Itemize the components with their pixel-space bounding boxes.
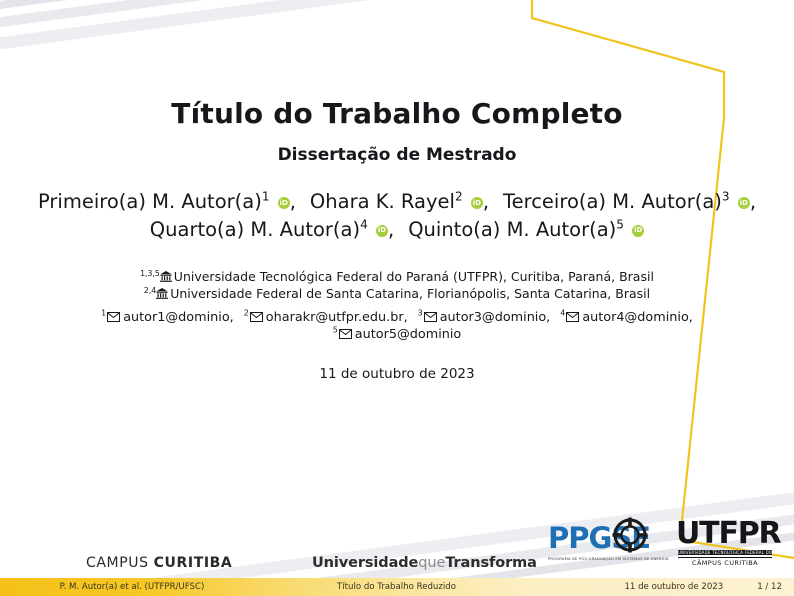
author-affil-mark: 2	[455, 190, 463, 204]
envelope-icon	[424, 312, 437, 322]
utfpr-campus: CÂMPUS CURITIBA	[672, 559, 778, 567]
author-entry: Ohara K. Rayel2 ,	[310, 190, 489, 213]
campus-word: CAMPUS	[86, 555, 154, 571]
uqt-universidade: Universidade	[312, 555, 418, 571]
institution-icon	[156, 288, 168, 299]
slide-footer: P. M. Autor(a) et al. (UTFPR/UFSC) Títul…	[0, 578, 794, 596]
author-name: Quarto(a) M. Autor(a)	[150, 218, 360, 241]
email-text: autor3@dominio,	[440, 310, 551, 325]
author-affil-mark: 4	[360, 217, 368, 231]
footer-short-title: Título do Trabalho Reduzido	[264, 578, 529, 596]
footer-page-number: 1 / 12	[757, 582, 782, 592]
uqt-transforma: Transforma	[445, 555, 537, 571]
email-item[interactable]: 4autor4@dominio,	[560, 310, 693, 325]
orcid-icon[interactable]	[632, 225, 644, 237]
email-item[interactable]: 2oharakr@utfpr.edu.br,	[244, 310, 408, 325]
author-affil-mark: 5	[616, 217, 624, 231]
affiliation-item: 2,4Universidade Federal de Santa Catarin…	[18, 285, 776, 302]
orcid-icon[interactable]	[278, 197, 290, 209]
envelope-icon	[250, 312, 263, 322]
author-name: Ohara K. Rayel	[310, 190, 455, 213]
author-sep: ,	[290, 190, 296, 213]
ppgse-logo: PPGSE PROGRAMA DE PÓS-GRADUAÇÃO EM SISTE…	[548, 513, 658, 569]
author-name: Quinto(a) M. Autor(a)	[408, 218, 616, 241]
footer-author: P. M. Autor(a) et al. (UTFPR/UFSC)	[0, 578, 264, 596]
author-entry: Quarto(a) M. Autor(a)4 ,	[150, 218, 394, 241]
affiliation-mark: 2,4	[144, 286, 156, 295]
email-mark: 2	[244, 309, 249, 318]
ppgse-gear-icon	[610, 515, 650, 555]
author-sep: ,	[388, 218, 394, 241]
curitiba-word: CURITIBA	[154, 555, 233, 571]
orcid-icon[interactable]	[738, 197, 750, 209]
author-affil-mark: 3	[722, 190, 730, 204]
uqt-que: que	[418, 555, 445, 571]
page-title: Título do Trabalho Completo	[0, 97, 794, 130]
institution-icon	[160, 271, 172, 282]
envelope-icon	[566, 312, 579, 322]
author-list: Primeiro(a) M. Autor(a)1 ,Ohara K. Rayel…	[18, 188, 776, 243]
email-text: autor5@dominio	[355, 327, 461, 342]
campus-curitiba-logo: CAMPUS CURITIBA	[86, 555, 232, 571]
footer-right: 11 de outubro de 2023 1 / 12	[529, 578, 794, 596]
page-subtitle: Dissertação de Mestrado	[0, 145, 794, 165]
email-mark: 5	[333, 326, 338, 335]
envelope-icon	[107, 312, 120, 322]
email-list: 1autor1@dominio,2oharakr@utfpr.edu.br,3a…	[18, 309, 776, 344]
affiliation-list: 1,3,5Universidade Tecnológica Federal do…	[18, 268, 776, 302]
footer-date: 11 de outubro de 2023	[624, 582, 723, 592]
email-text: autor4@dominio,	[582, 310, 693, 325]
affiliation-text: Universidade Tecnológica Federal do Para…	[174, 269, 654, 284]
email-item[interactable]: 3autor3@dominio,	[418, 310, 551, 325]
author-entry: Quinto(a) M. Autor(a)5	[408, 218, 644, 241]
affiliation-mark: 1,3,5	[140, 269, 160, 278]
orcid-icon[interactable]	[471, 197, 483, 209]
orcid-icon[interactable]	[376, 225, 388, 237]
slide-content: Título do Trabalho Completo Dissertação …	[0, 0, 794, 596]
email-text: autor1@dominio,	[123, 310, 234, 325]
utfpr-logo: UTFPR UNIVERSIDADE TECNOLÓGICA FEDERAL D…	[672, 512, 784, 570]
envelope-icon	[339, 329, 352, 339]
ppgse-subtitle: PROGRAMA DE PÓS-GRADUAÇÃO EM SISTEMAS DE…	[548, 557, 669, 561]
email-mark: 3	[418, 309, 423, 318]
email-item[interactable]: 5autor5@dominio	[333, 327, 462, 342]
author-entry: Primeiro(a) M. Autor(a)1 ,	[38, 190, 296, 213]
email-text: oharakr@utfpr.edu.br,	[266, 310, 408, 325]
email-mark: 1	[101, 309, 106, 318]
author-name: Primeiro(a) M. Autor(a)	[38, 190, 262, 213]
universidade-que-transforma-logo: UniversidadequeTransforma	[312, 555, 537, 571]
affiliation-item: 1,3,5Universidade Tecnológica Federal do…	[18, 268, 776, 285]
email-mark: 4	[560, 309, 565, 318]
author-entry: Terceiro(a) M. Autor(a)3 ,	[503, 190, 756, 213]
utfpr-wordmark: UTFPR	[676, 516, 780, 551]
author-sep: ,	[750, 190, 756, 213]
email-item[interactable]: 1autor1@dominio,	[101, 310, 234, 325]
author-sep: ,	[483, 190, 489, 213]
presentation-date: 11 de outubro de 2023	[0, 366, 794, 382]
utfpr-fullname: UNIVERSIDADE TECNOLÓGICA FEDERAL DO PARA…	[678, 550, 772, 555]
author-name: Terceiro(a) M. Autor(a)	[503, 190, 722, 213]
utfpr-rule	[678, 557, 772, 558]
utfpr-fpr: FPR	[718, 516, 780, 551]
affiliation-text: Universidade Federal de Santa Catarina, …	[170, 286, 650, 301]
author-affil-mark: 1	[262, 190, 270, 204]
utfpr-ut: UT	[676, 516, 718, 551]
